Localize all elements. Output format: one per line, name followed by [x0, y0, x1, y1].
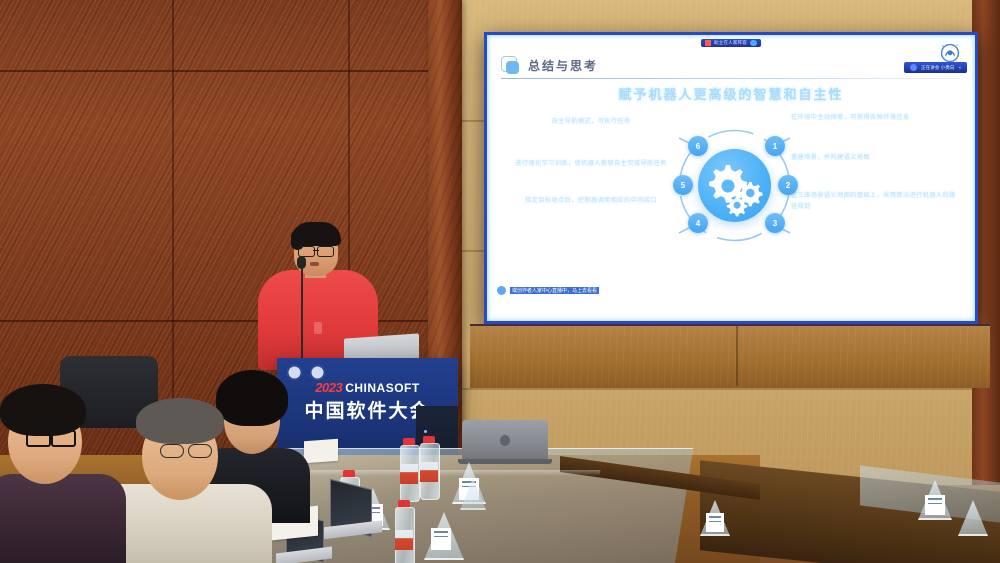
microphone-stand [301, 262, 303, 358]
credenza-seam [736, 326, 738, 386]
right-note: 在环境中主动探索，可获得各种环境信息 [791, 113, 961, 124]
gears-icon [698, 149, 771, 222]
audience-1-glasses [26, 430, 76, 443]
slide-footer-label: 或创作者人家中心直播中，马上去看看 [510, 287, 599, 294]
audience-2-hair [136, 398, 224, 444]
watch-pill-label: 正在讲会 小勇向 [921, 65, 954, 71]
podium-brand-en: CHINASOFT [345, 381, 420, 395]
wall-seam [462, 388, 1000, 390]
podium-led-indicator [424, 430, 427, 433]
diagram-node-4[interactable]: 4 [688, 213, 708, 233]
download-icon [910, 64, 917, 71]
wall-seam [0, 70, 462, 72]
presentation-slide: 助立在人家阵容 正在讲会 小勇向 « 总结与思考 [487, 35, 975, 321]
cloud-icon [750, 40, 757, 46]
stream-status-pill[interactable]: 助立在人家阵容 [701, 39, 761, 47]
podium-year: 2023 [315, 380, 342, 395]
shirt-logo [314, 322, 322, 334]
chevron-left-icon: « [958, 65, 961, 70]
audience-laptop[interactable] [330, 484, 388, 536]
diagram-node-2[interactable]: 2 [778, 175, 798, 195]
credenza-cabinet [470, 324, 990, 388]
projection-screen[interactable]: 助立在人家阵容 正在讲会 小勇向 « 总结与思考 [484, 32, 978, 324]
diagram-node-5[interactable]: 5 [673, 175, 693, 195]
presenter-mouth [310, 262, 319, 266]
macbook-laptop[interactable] [462, 420, 548, 464]
slide-title: 赋予机器人更高级的智慧和自主性 [487, 84, 975, 103]
header-divider [501, 78, 963, 79]
conference-room-scene: 助立在人家阵容 正在讲会 小勇向 « 总结与思考 [0, 0, 1000, 563]
user-avatar-icon [497, 286, 506, 295]
apple-logo-icon [500, 435, 510, 446]
slide-footer-badge[interactable]: 或创作者人家中心直播中，马上去看看 [497, 286, 599, 295]
slide-header: 总结与思考 [501, 56, 598, 75]
audience-1-hair [0, 384, 86, 436]
microphone-icon [297, 256, 306, 269]
presenter-glasses [298, 246, 334, 255]
slide-left-notes: 自主导航模式，可执行任务 进行强化学习训练，使机器人能够自主完成导航任务 指定目… [507, 117, 675, 233]
left-note: 进行强化学习训练，使机器人能够自主完成导航任务 [507, 159, 675, 170]
water-bottle[interactable] [395, 500, 413, 563]
stream-pill-label: 助立在人家阵容 [714, 40, 747, 46]
circular-process-diagram: 1 2 3 4 5 6 [662, 113, 807, 258]
diagram-node-3[interactable]: 3 [765, 213, 785, 233]
diagram-node-1[interactable]: 1 [765, 136, 785, 156]
audience-member-1 [0, 378, 126, 563]
left-note: 自主导航模式，可执行任务 [507, 117, 675, 128]
water-bottle[interactable] [420, 436, 438, 498]
diagram-node-6[interactable]: 6 [688, 136, 708, 156]
audience-2-glasses [160, 444, 212, 456]
emblem-right-icon [310, 365, 325, 380]
audience-1-torso [0, 474, 126, 563]
diagram-center [698, 149, 771, 222]
left-note: 指定目标地点后，控制器调用相应的中间接口 [507, 196, 675, 207]
watch-live-pill[interactable]: 正在讲会 小勇向 « [904, 62, 967, 73]
signal-bars-icon [705, 40, 711, 46]
water-bottle[interactable] [400, 438, 418, 500]
right-note: 重建场景，并构建语义地图 [791, 153, 961, 164]
slide-header-title: 总结与思考 [528, 57, 598, 74]
wall-seam [0, 320, 462, 322]
slide-right-notes: 在环境中主动探索，可获得各种环境信息 重建场景，并构建语义地图 在三维场景语义地… [791, 113, 961, 239]
right-note: 在三维场景语义地图的基础上，采用算法进行机器人的路径规划 [791, 191, 961, 213]
rounded-square-icon [501, 56, 521, 75]
